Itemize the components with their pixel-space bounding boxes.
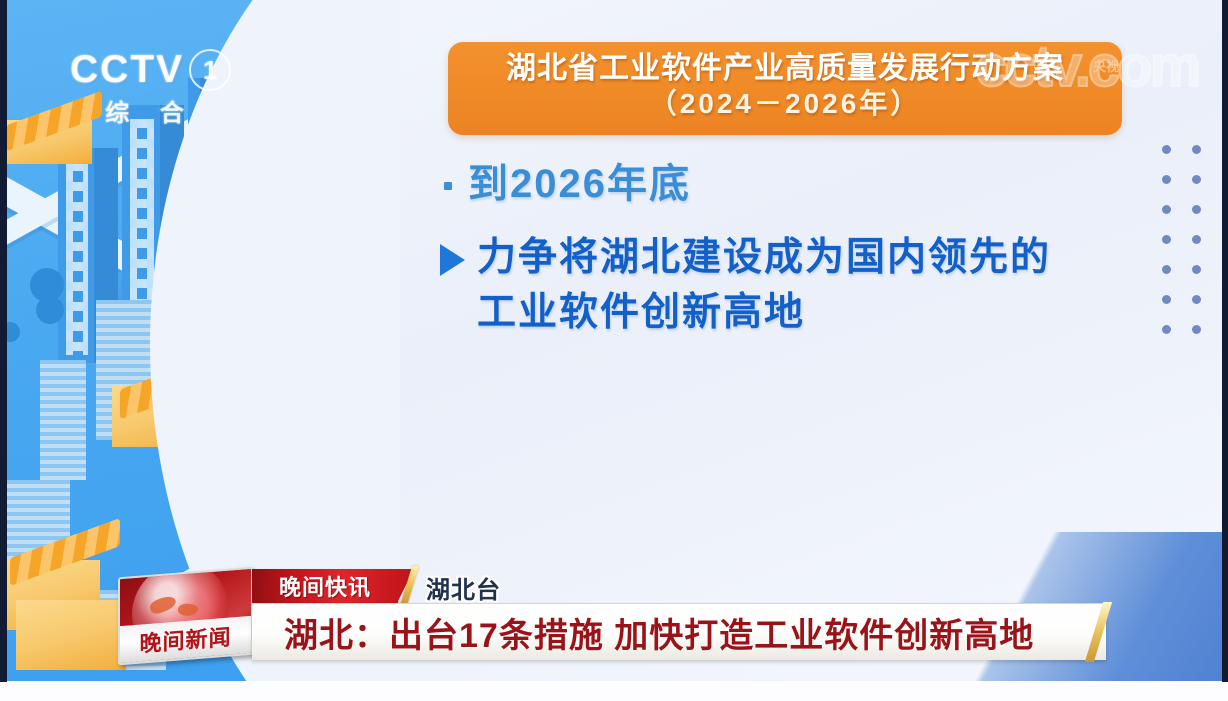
grid-dot — [1162, 235, 1171, 244]
triangle-marker-icon — [440, 244, 465, 276]
grid-dot — [1162, 295, 1171, 304]
tree-shape — [36, 296, 64, 324]
grid-dot — [1162, 145, 1171, 154]
grid-dot — [1162, 175, 1171, 184]
bullet-1-text: 到2026年底 — [468, 160, 691, 208]
grid-dot — [1192, 205, 1201, 214]
broadcast-frame: CCTV 1 综 合 cctv.com 央视 湖北省工业软件产业高质量发展行动方… — [0, 0, 1228, 701]
banner-title-line2: （2024－2026年） — [649, 86, 922, 121]
headline-text: 湖北：出台17条措施 加快打造工业软件创新高地 — [252, 608, 1034, 657]
flash-tag-badge: 晚间快讯 — [252, 569, 398, 603]
grid-dot — [1162, 205, 1171, 214]
grid-dot — [1192, 325, 1201, 334]
policy-title-banner: 湖北省工业软件产业高质量发展行动方案 （2024－2026年） — [448, 42, 1122, 135]
grid-dot — [1192, 295, 1201, 304]
square-dot-marker-icon — [444, 182, 452, 190]
grid-dot — [1192, 145, 1201, 154]
grid-dot — [1162, 265, 1171, 274]
striped-building — [40, 360, 86, 480]
headline-bar: 湖北：出台17条措施 加快打造工业软件创新高地 — [252, 603, 1106, 660]
policy-content-list: 到2026年底 力争将湖北建设成为国内领先的 工业软件创新高地 — [440, 160, 1120, 341]
program-logo-badge: 晚间新闻 — [118, 567, 253, 666]
bullet-2-text-block: 力争将湖北建设成为国内领先的 工业软件创新高地 — [477, 230, 1051, 341]
decorative-dot-grid — [1162, 145, 1222, 355]
grid-dot — [1162, 325, 1171, 334]
flash-tag-label: 晚间快讯 — [279, 570, 371, 602]
grid-dot — [1192, 235, 1201, 244]
banner-title-line1: 湖北省工业软件产业高质量发展行动方案 — [506, 52, 1064, 87]
bullet-item-2: 力争将湖北建设成为国内领先的 工业软件创新高地 — [440, 230, 1120, 341]
frame-bottom-strip — [0, 681, 1228, 701]
grid-dot — [1192, 175, 1201, 184]
lower-third-bar: 晚间新闻 晚间快讯 湖北台 湖北：出台17条措施 加快打造工业软件创新高地 — [0, 562, 1228, 682]
bullet-item-1: 到2026年底 — [440, 160, 1120, 208]
window-grid — [66, 162, 88, 355]
frame-right-border — [1222, 0, 1228, 682]
bullet-2-line1: 力争将湖北建设成为国内领先的 — [477, 230, 1051, 285]
grid-dot — [1192, 265, 1201, 274]
bullet-2-line2: 工业软件创新高地 — [477, 285, 1051, 340]
frame-left-border — [0, 0, 7, 682]
news-source-label: 湖北台 — [426, 570, 501, 605]
